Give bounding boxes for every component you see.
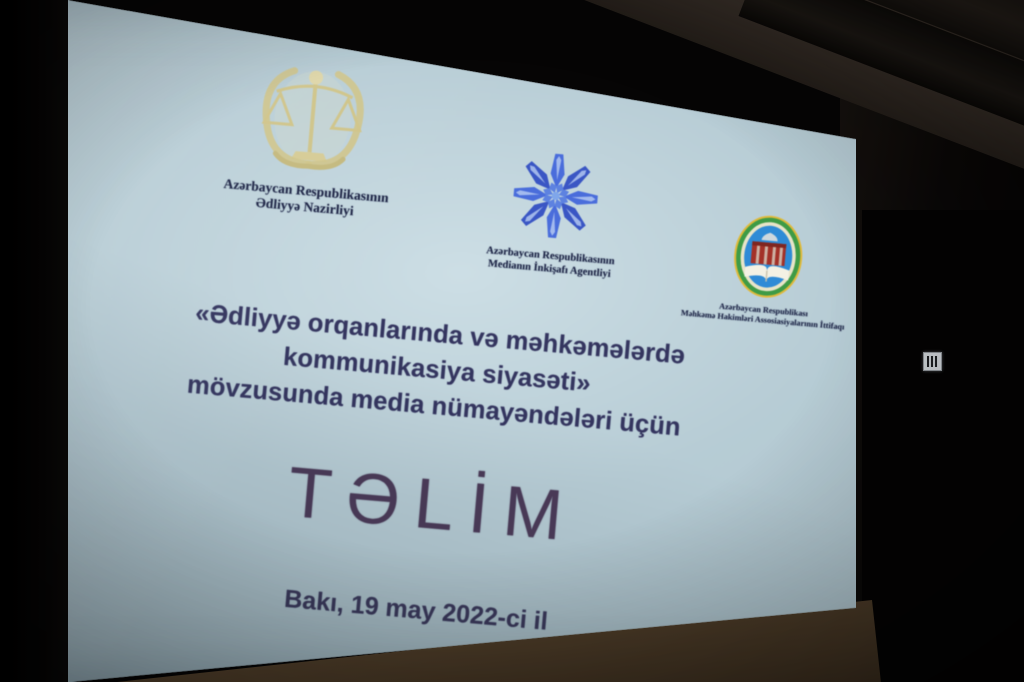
wall-dark-panel bbox=[862, 210, 1024, 682]
logo-union-of-judges-associations: Azərbaycan Respublikası Məhkəmə Hakimlər… bbox=[648, 203, 887, 336]
slide-headline: TƏLİM bbox=[78, 434, 772, 575]
logo-caption-union-of-judges-associations: Azərbaycan Respublikası Məhkəmə Hakimlər… bbox=[648, 295, 879, 335]
left-wall-column bbox=[0, 0, 72, 682]
eight-petal-flower-icon bbox=[500, 142, 612, 251]
logo-media-development-agency: Azərbaycan Respublikasının Medianın İnki… bbox=[439, 137, 670, 286]
logo-caption-ministry-of-justice: Azərbaycan Respublikasının Ədliyyə Nazir… bbox=[179, 172, 431, 227]
screenshot-root: Azərbaycan Respublikasının Ədliyyə Nazir… bbox=[0, 0, 1024, 682]
scales-of-justice-wreath-emblem-icon bbox=[244, 55, 382, 184]
wall-switch-icon[interactable] bbox=[923, 352, 942, 371]
logo-ministry-of-justice: Azərbaycan Respublikasının Ədliyyə Nazir… bbox=[179, 50, 442, 227]
court-building-book-seal-emblem-icon bbox=[724, 209, 813, 304]
logo-caption-media-development-agency: Azərbaycan Respublikasının Medianın İnki… bbox=[439, 241, 660, 286]
